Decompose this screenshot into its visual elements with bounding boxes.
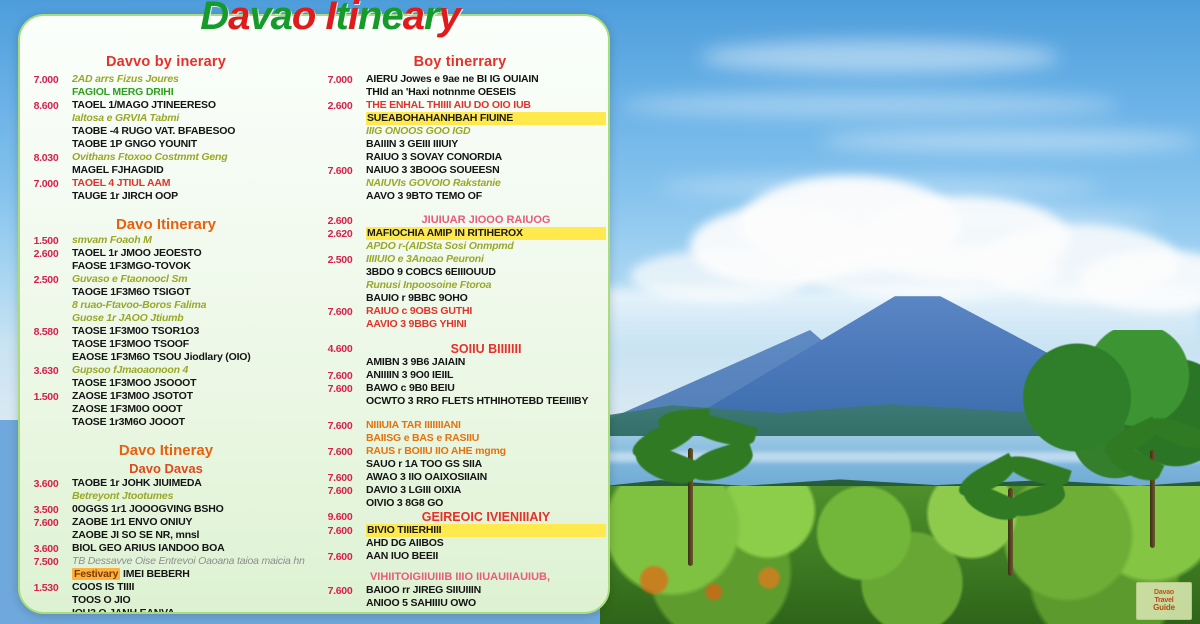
itinerary-row[interactable]: 2.600TAOEL 1r JMOO JEOESTO: [20, 247, 312, 260]
section-heading-row: 4.600SOIIU BIIIIIII: [314, 342, 606, 356]
row-time: 4.600: [314, 342, 366, 355]
row-time: [314, 318, 366, 319]
row-time: 7.600: [314, 369, 366, 382]
itinerary-row[interactable]: 7.600NIIIUIA TAR IIIIIIIANI: [314, 419, 606, 432]
row-text: NAIUO 3 3BOOG SOUEESN: [366, 164, 606, 177]
row-time: [20, 338, 72, 339]
row-time: 7.600: [314, 484, 366, 497]
watermark-line-3: Guide: [1153, 604, 1175, 612]
cloud-wisp: [820, 130, 1200, 152]
itinerary-row[interactable]: IIIG ONOOS GOO IGD: [314, 125, 606, 138]
row-text: TAOGE 1F3M6O TSIGOT: [72, 286, 312, 299]
itinerary-row[interactable]: 2.500IIIIUIO e 3Anoao Peuroni: [314, 253, 606, 266]
itinerary-row[interactable]: 3.600TAOBE 1r JOHK JIUIMEDA: [20, 477, 312, 490]
itinerary-row[interactable]: APDO r-(AIDSta Sosi Onmpmd: [314, 240, 606, 253]
itinerary-row[interactable]: Ialtosa e GRVIA Tabmi: [20, 112, 312, 125]
title-letter: r: [424, 0, 439, 38]
itinerary-row[interactable]: AAVO 3 9BTO TEMO OF: [314, 190, 606, 203]
itinerary-row[interactable]: TAOSE 1F3MOO JSOOOT: [20, 377, 312, 390]
itinerary-row[interactable]: 1.500ZAOSE 1F3M0O JSOTOT: [20, 390, 312, 403]
itinerary-row[interactable]: 2.500Guvaso e Ftaonoocl Sm: [20, 273, 312, 286]
section-heading: JIUIUAR JIOOO RAIUOG: [366, 214, 606, 226]
itinerary-row[interactable]: SAUO r 1A TOO GS SIIA: [314, 458, 606, 471]
row-text: OCWTO 3 RRO FLETS HTHIHOTEBD TEEIIIBY: [366, 395, 606, 408]
row-time: 9.600: [314, 510, 366, 523]
row-text: IIIG ONOOS GOO IGD: [366, 125, 606, 138]
itinerary-row[interactable]: RAIUO 3 SOVAY CONORDIA: [314, 151, 606, 164]
row-time: 7.600: [314, 584, 366, 597]
row-text: Betreyont Jtootumes: [72, 490, 312, 503]
row-time: [314, 497, 366, 498]
itinerary-row[interactable]: BAUIO r 9BBC 9OHO: [314, 292, 606, 305]
row-text: ANIIIIN 3 9O0 IEIIL: [366, 369, 606, 382]
itinerary-row[interactable]: Festivary IMEI BEBERH: [20, 568, 312, 581]
row-time: 2.620: [314, 227, 366, 240]
itinerary-row[interactable]: ZAOSE 1F3M0O OOOT: [20, 403, 312, 416]
row-text: AIERU Jowes e 9ae ne BI IG OUIAIN: [366, 73, 606, 86]
itinerary-row[interactable]: 8 ruao-Ftavoo-Boros Falima: [20, 299, 312, 312]
row-time: [20, 260, 72, 261]
row-text: TAOEL 1/MAGO JTINEERESO: [72, 99, 312, 112]
row-time: 7.000: [314, 73, 366, 86]
itinerary-row[interactable]: TAOGE 1F3M6O TSIGOT: [20, 286, 312, 299]
row-text: TB Dessavve Oise Entrevoi Oaoana taioa m…: [72, 555, 312, 568]
row-text: TAOEL 1r JMOO JEOESTO: [72, 247, 312, 260]
palm-tree: [1106, 400, 1200, 550]
section-heading: SOIIU BIIIIIII: [366, 342, 606, 356]
row-text: IOU3 O JANH EANVA: [72, 607, 312, 614]
row-text: RAIUO 3 SOVAY CONORDIA: [366, 151, 606, 164]
itinerary-row[interactable]: AAVIO 3 9BBG YHINI: [314, 318, 606, 331]
row-time: [20, 490, 72, 491]
row-text: DAVIO 3 LGIII OIXIA: [366, 484, 606, 497]
row-time: 7.000: [20, 73, 72, 86]
row-time: 7.600: [314, 524, 366, 537]
title-letter: a: [228, 0, 249, 38]
row-text: Runusi Inpoosoine Ftoroa: [366, 279, 606, 292]
page-title: Davao Itineary: [120, 0, 540, 40]
itinerary-row[interactable]: ZAOBE JI SO SE NR, mnsl: [20, 529, 312, 542]
row-time: [314, 610, 366, 611]
row-text: AAVO 3 9BTO TEMO OF: [366, 190, 606, 203]
itinerary-row[interactable]: TAOSE 1F3MOO TSOOF: [20, 338, 312, 351]
row-text: NAIUVIs GOVOIO Rakstanie: [366, 177, 606, 190]
row-time: [314, 151, 366, 152]
row-time: 1.500: [20, 234, 72, 247]
row-text: TAOBE 1r JOHK JIUIMEDA: [72, 477, 312, 490]
row-text: AMIBN 3 9B6 JAIAIN: [366, 356, 606, 369]
row-text: NIIIUIA TAR IIIIIIIANI: [366, 419, 606, 432]
row-time: [314, 395, 366, 396]
row-time: [314, 125, 366, 126]
row-text: FAOSE 1F3MGO-TOVOK: [72, 260, 312, 273]
row-time: [20, 351, 72, 352]
row-time: 3.630: [20, 364, 72, 377]
itinerary-row[interactable]: 2.620MAFIOCHIA AMIP IN RITIHEROX: [314, 227, 606, 240]
itinerary-row[interactable]: 7.600RAIUO c 9OBS GUTHI: [314, 305, 606, 318]
row-text: ZAOSE 1F3M0O OOOT: [72, 403, 312, 416]
itinerary-row[interactable]: 3.5000OGGS 1r1 JOOOGVING BSHO: [20, 503, 312, 516]
row-text: BAWO c 9B0 BEIU: [366, 382, 606, 395]
title-letter: y: [439, 0, 460, 38]
row-time: [20, 299, 72, 300]
right-column-heading: Boy tinerrary: [314, 54, 606, 70]
itinerary-row[interactable]: 7.600AAN IUO BEEII: [314, 550, 606, 563]
row-time: 8.580: [20, 325, 72, 338]
itinerary-row[interactable]: 1.500smvam Foaoh M: [20, 234, 312, 247]
row-time: [20, 377, 72, 378]
row-time: 7.600: [314, 550, 366, 563]
row-time: [314, 86, 366, 87]
row-text: TAOSE 1r3M6O JOOOT: [72, 416, 312, 429]
title-letter: t: [336, 0, 348, 38]
row-text: Ovithans Ftoxoo Costmmt Geng: [72, 151, 312, 164]
row-text: MAFIOCHIA AMIP IN RITIHEROX: [366, 227, 606, 240]
row-time: 7.600: [314, 471, 366, 484]
highlighted-term: Festivary: [72, 568, 120, 580]
itinerary-row[interactable]: AMIBN 3 9B6 JAIAIN: [314, 356, 606, 369]
row-time: [20, 190, 72, 191]
section-spacer: [20, 203, 312, 214]
itinerary-column-left: Davvo by inerary7.0002AD arrs Fizus Jour…: [20, 52, 314, 612]
itinerary-row[interactable]: TAOBE 1P GNGO YOUNIT: [20, 138, 312, 151]
itinerary-row[interactable]: BAIIIN 3 GEIII IIIUIY: [314, 138, 606, 151]
row-text: MAGEL FJHAGDID: [72, 164, 312, 177]
row-text: IIIIUIO e 3Anoao Peuroni: [366, 253, 606, 266]
row-text: THE ENHAL THIIII AIU DO OIO IUB: [366, 99, 606, 112]
section-spacer: [20, 429, 312, 440]
row-text: TAOSE 1F3M0O TSOR1O3: [72, 325, 312, 338]
row-text: OIVIO 3 8G8 GO: [366, 497, 606, 510]
row-time: 7.600: [314, 382, 366, 395]
itinerary-row[interactable]: 8.030Ovithans Ftoxoo Costmmt Geng: [20, 151, 312, 164]
row-text: RAUS r BOIIU IIO AHE mgmg: [366, 445, 606, 458]
row-time: [314, 458, 366, 459]
itinerary-row[interactable]: Guose 1r JAOO Jtiumb: [20, 312, 312, 325]
row-time: [20, 164, 72, 165]
row-time: 2.500: [20, 273, 72, 286]
row-text: Guose 1r JAOO Jtiumb: [72, 312, 312, 325]
row-text: AAVIO 3 9BBG YHINI: [366, 318, 606, 331]
itinerary-row[interactable]: 7.600ZAOBE 1r1 ENVO ONIUY: [20, 516, 312, 529]
row-time: 2.500: [314, 253, 366, 266]
itinerary-row[interactable]: SUEABOHAHANHBAH FIUINE: [314, 112, 606, 125]
itinerary-card: Davvo by inerary7.0002AD arrs Fizus Jour…: [18, 14, 610, 614]
itinerary-row[interactable]: EAOSE 1F3M6O TSOU Jiodlary (OIO): [20, 351, 312, 364]
itinerary-row[interactable]: THId an 'Haxi notnnme OESEIS: [314, 86, 606, 99]
itinerary-row[interactable]: 1.530COOS IS TIIII: [20, 581, 312, 594]
itinerary-row[interactable]: 8.580TAOSE 1F3M0O TSOR1O3: [20, 325, 312, 338]
row-time: 7.600: [314, 445, 366, 458]
itinerary-row[interactable]: 7.600ANIIIIN 3 9O0 IEIIL: [314, 369, 606, 382]
row-text: Ialtosa e GRVIA Tabmi: [72, 112, 312, 125]
itinerary-row[interactable]: 8.600TAOEL 1/MAGO JTINEERESO: [20, 99, 312, 112]
section-heading: Davo Davas: [20, 461, 312, 476]
row-time: [314, 279, 366, 280]
row-time: [20, 125, 72, 126]
itinerary-column-right: Boy tinerrary7.000AIERU Jowes e 9ae ne B…: [314, 52, 608, 612]
itinerary-row[interactable]: 7.0002AD arrs Fizus Joures: [20, 73, 312, 86]
itinerary-columns: Davvo by inerary7.0002AD arrs Fizus Jour…: [20, 52, 608, 612]
title-letter: e: [381, 0, 402, 38]
row-text: BAUIO r 9BBC 9OHO: [366, 292, 606, 305]
itinerary-row[interactable]: FAGIOL MERG DRIHI: [20, 86, 312, 99]
row-text: BAIOO rr JIREG SIIUIIIN: [366, 584, 606, 597]
itinerary-row[interactable]: 7.600BAWO c 9B0 BEIU: [314, 382, 606, 395]
row-time: 3.500: [20, 503, 72, 516]
itinerary-row[interactable]: 2.600THE ENHAL THIIII AIU DO OIO IUB: [314, 99, 606, 112]
row-time: [314, 177, 366, 178]
cloud-wisp: [620, 92, 1120, 118]
row-time: 8.030: [20, 151, 72, 164]
section-heading: VIHIITOIGIIUIIIB IIIO IIUAUIIAUIUB,: [314, 571, 606, 583]
row-text: TAOEL 4 JTIUL AAM: [72, 177, 312, 190]
row-text: Festivary IMEI BEBERH: [72, 568, 312, 581]
row-text: 0OGGS 1r1 JOOOGVING BSHO: [72, 503, 312, 516]
palm-tree: [636, 392, 766, 562]
itinerary-row[interactable]: 7.600DAVIO 3 LGIII OIXIA: [314, 484, 606, 497]
row-time: 3.600: [20, 542, 72, 555]
row-text: ZAOBE JI SO SE NR, mnsl: [72, 529, 312, 542]
title-letter: o: [292, 0, 315, 38]
itinerary-row[interactable]: MAGEL FJHAGDID: [20, 164, 312, 177]
row-time: 2.600: [314, 214, 366, 227]
row-text: RAIUO c 9OBS GUTHI: [366, 305, 606, 318]
row-time: [20, 416, 72, 417]
itinerary-row[interactable]: AHD DG AIIBOS: [314, 537, 606, 550]
section-heading-row: 2.600JIUIUAR JIOOO RAIUOG: [314, 214, 606, 227]
title-letter: a: [271, 0, 292, 38]
row-time: 7.500: [20, 555, 72, 568]
section-heading: Davo Itineray: [20, 442, 312, 459]
row-time: [20, 529, 72, 530]
row-time: [314, 292, 366, 293]
row-text: 8 ruao-Ftavoo-Boros Falima: [72, 299, 312, 312]
row-time: [20, 312, 72, 313]
itinerary-row[interactable]: 7.000TAOEL 4 JTIUL AAM: [20, 177, 312, 190]
row-time: 3.600: [20, 477, 72, 490]
itinerary-row[interactable]: 7.600RAUS r BOIIU IIO AHE mgmg: [314, 445, 606, 458]
row-text: Guvaso e Ftaonoocl Sm: [72, 273, 312, 286]
row-text: TOOS O JIO: [72, 594, 312, 607]
row-time: [314, 138, 366, 139]
row-time: [314, 356, 366, 357]
row-text: 3BDO 9 COBCS 6EIIIOUUD: [366, 266, 606, 279]
row-text: TAOBE 1P GNGO YOUNIT: [72, 138, 312, 151]
title-letter: D: [200, 0, 228, 38]
itinerary-row[interactable]: 3.600BIOL GEO ARIUS IANDOO BOA: [20, 542, 312, 555]
row-time: 8.600: [20, 99, 72, 112]
row-time: [314, 432, 366, 433]
row-text: SAUO r 1A TOO GS SIIA: [366, 458, 606, 471]
row-time: 7.600: [20, 516, 72, 529]
section-heading-row: 9.600GEIREOIC IVIENIIIAIY: [314, 510, 606, 524]
row-time: 1.500: [20, 390, 72, 403]
itinerary-row[interactable]: 7.600BIVIO TIIIERHIII: [314, 524, 606, 537]
row-time: [20, 403, 72, 404]
row-text: AHD DG AIIBOS: [366, 537, 606, 550]
row-time: 7.600: [314, 419, 366, 432]
section-spacer: [314, 331, 606, 342]
row-text: Gupsoo fJmaoaonoon 4: [72, 364, 312, 377]
watermark-line-1: Davao: [1154, 589, 1174, 596]
itinerary-row[interactable]: 7.000AIERU Jowes e 9ae ne BI IG OUIAIN: [314, 73, 606, 86]
row-time: 2.600: [20, 247, 72, 260]
row-text: THId an 'Haxi notnnme OESEIS: [366, 86, 606, 99]
row-text: ANIOO 5 SAHIIIU OWO: [366, 597, 606, 610]
row-time: 7.600: [314, 305, 366, 318]
itinerary-row[interactable]: 3.630Gupsoo fJmaoaonoon 4: [20, 364, 312, 377]
section-spacer: [314, 203, 606, 214]
row-text: BAVVIN 3 SAHO BEIIN: [366, 610, 606, 614]
row-time: [20, 112, 72, 113]
cloud-wisp: [700, 40, 1060, 74]
row-text: BAIIIN 3 GEIII IIIUIY: [366, 138, 606, 151]
flowering-shrubs: [608, 560, 838, 610]
row-text: APDO r-(AIDSta Sosi Onmpmd: [366, 240, 606, 253]
row-text: TAOBE -4 RUGO VAT. BFABESOO: [72, 125, 312, 138]
itinerary-row[interactable]: IOU3 O JANH EANVA: [20, 607, 312, 614]
section-heading: GEIREOIC IVIENIIIAIY: [366, 510, 606, 524]
row-text: ZAOSE 1F3M0O JSOTOT: [72, 390, 312, 403]
row-text: FAGIOL MERG DRIHI: [72, 86, 312, 99]
itinerary-row[interactable]: NAIUVIs GOVOIO Rakstanie: [314, 177, 606, 190]
itinerary-row[interactable]: TAUGE 1r JIRCH OOP: [20, 190, 312, 203]
row-text: BIOL GEO ARIUS IANDOO BOA: [72, 542, 312, 555]
itinerary-row[interactable]: TAOBE -4 RUGO VAT. BFABESOO: [20, 125, 312, 138]
row-text: smvam Foaoh M: [72, 234, 312, 247]
row-time: [314, 112, 366, 113]
itinerary-row[interactable]: BAIISG e BAS e RASIIU: [314, 432, 606, 445]
itinerary-row[interactable]: 7.600BAIOO rr JIREG SIIUIIIN: [314, 584, 606, 597]
row-time: [314, 597, 366, 598]
row-text: AWAO 3 IIO OAIXOSIIAIN: [366, 471, 606, 484]
row-time: 1.530: [20, 581, 72, 594]
title-letter: i: [348, 0, 358, 38]
row-text: TAUGE 1r JIRCH OOP: [72, 190, 312, 203]
itinerary-row[interactable]: 7.600AWAO 3 IIO OAIXOSIIAIN: [314, 471, 606, 484]
title-letter: [315, 0, 325, 38]
itinerary-row[interactable]: OCWTO 3 RRO FLETS HTHIHOTEBD TEEIIIBY: [314, 395, 606, 408]
itinerary-row[interactable]: Betreyont Jtootumes: [20, 490, 312, 503]
row-time: [20, 594, 72, 595]
row-time: 7.000: [20, 177, 72, 190]
title-letter: n: [358, 0, 381, 38]
row-time: 7.600: [314, 164, 366, 177]
title-letter: I: [325, 0, 335, 38]
row-text: COOS IS TIIII: [72, 581, 312, 594]
row-time: [20, 86, 72, 87]
row-text: AAN IUO BEEII: [366, 550, 606, 563]
row-text: BIVIO TIIIERHIII: [366, 524, 606, 537]
row-time: [314, 537, 366, 538]
itinerary-row[interactable]: TOOS O JIO: [20, 594, 312, 607]
itinerary-row[interactable]: Runusi Inpoosoine Ftoroa: [314, 279, 606, 292]
section-spacer: [314, 408, 606, 419]
itinerary-row[interactable]: 7.500TB Dessavve Oise Entrevoi Oaoana ta…: [20, 555, 312, 568]
row-time: [314, 240, 366, 241]
itinerary-row[interactable]: OIVIO 3 8G8 GO: [314, 497, 606, 510]
row-time: [314, 266, 366, 267]
section-spacer: [314, 563, 606, 569]
itinerary-row[interactable]: 3BDO 9 COBCS 6EIIIOUUD: [314, 266, 606, 279]
row-text: BAIISG e BAS e RASIIU: [366, 432, 606, 445]
palm-tree: [960, 436, 1080, 576]
title-letter: a: [403, 0, 424, 38]
watermark-badge: Davao Travel Guide: [1136, 582, 1192, 620]
row-text: ZAOBE 1r1 ENVO ONIUY: [72, 516, 312, 529]
row-time: [20, 607, 72, 608]
row-text: EAOSE 1F3M6O TSOU Jiodlary (OIO): [72, 351, 312, 364]
itinerary-row[interactable]: FAOSE 1F3MGO-TOVOK: [20, 260, 312, 273]
itinerary-row[interactable]: TAOSE 1r3M6O JOOOT: [20, 416, 312, 429]
itinerary-row[interactable]: 7.600NAIUO 3 3BOOG SOUEESN: [314, 164, 606, 177]
row-time: 2.600: [314, 99, 366, 112]
row-time: [20, 568, 72, 569]
section-heading: Davo Itinerary: [20, 216, 312, 233]
title-letter: v: [249, 0, 270, 38]
row-text: TAOSE 1F3MOO TSOOF: [72, 338, 312, 351]
row-text: 2AD arrs Fizus Joures: [72, 73, 312, 86]
row-time: [20, 138, 72, 139]
left-column-heading: Davvo by inerary: [20, 54, 312, 70]
row-text: SUEABOHAHANHBAH FIUINE: [366, 112, 606, 125]
row-time: [314, 190, 366, 191]
row-time: [20, 286, 72, 287]
itinerary-row[interactable]: ANIOO 5 SAHIIIU OWO: [314, 597, 606, 610]
row-text: TAOSE 1F3MOO JSOOOT: [72, 377, 312, 390]
itinerary-row[interactable]: BAVVIN 3 SAHO BEIIN: [314, 610, 606, 614]
